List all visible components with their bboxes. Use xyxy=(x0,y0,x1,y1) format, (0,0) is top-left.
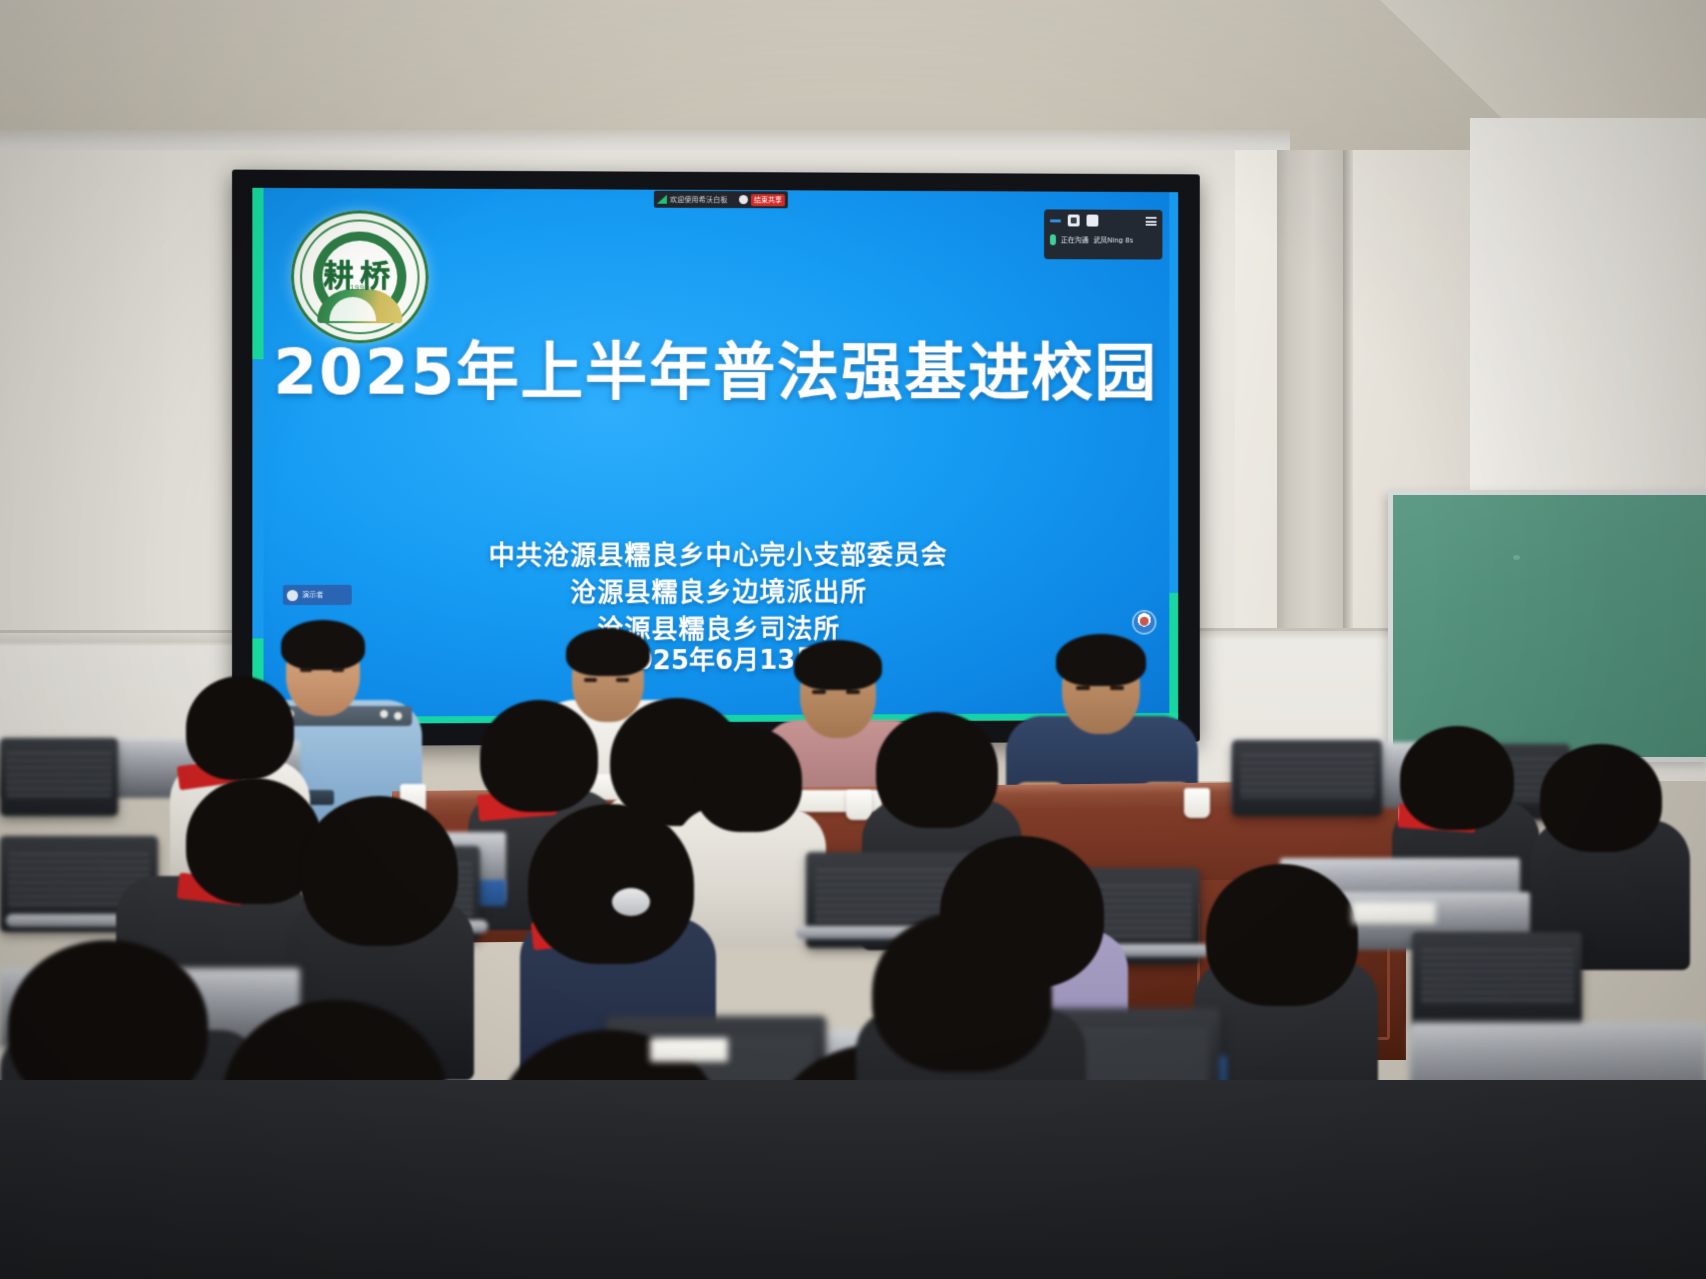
photo-canvas: 耕桥 1999 欢迎使用希沃白板 结束共享 xyxy=(0,0,1706,1279)
student-r2-c-hair xyxy=(528,804,694,964)
floor xyxy=(0,1080,1706,1279)
user-badge-icon xyxy=(287,589,298,600)
panel-top-row xyxy=(1050,214,1157,226)
presenter-chip[interactable]: 演示者 xyxy=(283,585,352,605)
chair-back-slats xyxy=(6,752,112,797)
navy-polo-hair xyxy=(1056,634,1146,686)
white-shirt-eye-left xyxy=(584,678,597,682)
white-shirt-eye-right xyxy=(616,678,629,682)
left-wall-column xyxy=(0,150,252,710)
account-icon[interactable] xyxy=(739,195,748,204)
emblem-year: 1999 xyxy=(291,285,429,292)
meeting-control-panel[interactable]: 正在沟通 武凤Ning 8s xyxy=(1044,209,1162,259)
officer-rank-pip-4 xyxy=(394,712,402,720)
presentation-slide: 耕桥 1999 欢迎使用希沃白板 结束共享 xyxy=(252,188,1178,724)
screen-share-toolbar[interactable]: 欢迎使用希沃白板 结束共享 xyxy=(654,191,788,209)
student-r1-b-hair xyxy=(480,700,598,812)
paper-cup-3 xyxy=(1184,788,1210,818)
panel-user-text: 武凤Ning 8s xyxy=(1093,235,1133,245)
organization-line-2: 沧源县糯良乡边境派出所 xyxy=(252,574,1178,613)
near-desk-notebook xyxy=(650,1038,728,1062)
chair-back-slats xyxy=(1240,754,1375,798)
slide-date: 2025年6月13日 xyxy=(252,639,1178,679)
navy-polo-eye-right xyxy=(1110,686,1124,690)
organization-line-1: 中共沧源县糯良乡中心完小支部委员会 xyxy=(252,537,1178,576)
slide-organizations: 中共沧源县糯良乡中心完小支部委员会 沧源县糯良乡边境派出所 沧源县糯良乡司法所 xyxy=(252,537,1178,650)
chair-far-left-1 xyxy=(0,738,118,816)
panel-status-row: 正在沟通 武凤Ning 8s xyxy=(1050,234,1157,245)
officer-hair xyxy=(281,620,365,670)
student-r1-f-hair xyxy=(1400,726,1514,830)
pink-shirt-eye-left xyxy=(812,690,826,694)
pink-shirt-hair xyxy=(794,640,882,690)
chair-mid-5 xyxy=(1412,932,1582,1028)
student-r2-c-hair-tie xyxy=(612,888,650,916)
officer-rank-pip-3 xyxy=(380,710,388,718)
menu-icon[interactable] xyxy=(1146,216,1157,225)
led-display-panel[interactable]: 耕桥 1999 欢迎使用希沃白板 结束共享 xyxy=(252,188,1178,724)
slide-title: 2025年上半年普法强基进校园 xyxy=(252,321,1178,412)
microphone-icon[interactable] xyxy=(1050,234,1056,245)
stop-share-button[interactable]: 结束共享 xyxy=(751,194,785,206)
student-r1-g-hair xyxy=(1540,744,1662,852)
student-r2-e-hair xyxy=(1206,864,1358,1006)
toolbar-app-label: 欢迎使用希沃白板 xyxy=(670,194,736,204)
green-chalkboard xyxy=(1388,490,1706,762)
presenter-chip-label: 演示者 xyxy=(302,590,323,600)
chalkboard-mark xyxy=(1513,555,1520,560)
minimize-icon[interactable] xyxy=(1050,219,1061,222)
chair-far-right-1 xyxy=(1232,740,1382,816)
chair-back-slats xyxy=(1421,949,1574,1005)
participant-avatar[interactable] xyxy=(1134,612,1155,633)
navy-polo-eye-left xyxy=(1076,686,1090,690)
copy-icon[interactable] xyxy=(1087,215,1099,227)
led-display-frame[interactable]: 耕桥 1999 欢迎使用希沃白板 结束共享 xyxy=(232,170,1200,747)
paper-cup-2 xyxy=(846,790,872,820)
student-r1-d-hair xyxy=(694,726,802,832)
signal-icon xyxy=(657,195,667,204)
student-r1-e-hair xyxy=(876,712,998,828)
pink-shirt-eye-right xyxy=(846,690,860,694)
window-icon[interactable] xyxy=(1068,214,1080,226)
panel-status-text: 正在沟通 xyxy=(1061,235,1089,245)
officer-eye-left xyxy=(300,668,312,672)
student-r2-b-hair xyxy=(300,796,458,946)
right-desk-notebook xyxy=(1352,902,1436,924)
white-shirt-hair xyxy=(566,628,650,676)
student-r1-a-hair xyxy=(186,676,294,780)
student-r3-e-hair xyxy=(872,912,1052,1072)
officer-eye-right xyxy=(332,668,344,672)
